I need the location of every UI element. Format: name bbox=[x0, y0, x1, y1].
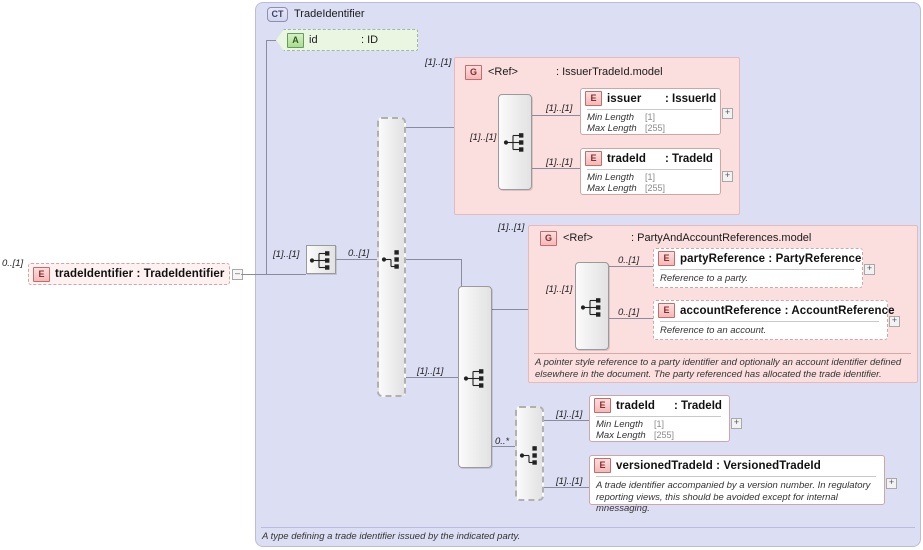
element-versionedtradeid[interactable]: E versionedTradeId : VersionedTradeId A … bbox=[589, 455, 885, 505]
connector-tradeid-bottom-branch bbox=[544, 420, 589, 421]
element-name: partyReference : PartyReference bbox=[680, 253, 861, 265]
connector-root-to-sequence bbox=[241, 274, 306, 275]
element-name: tradeId bbox=[616, 400, 674, 412]
multiplicity-choice-to-bottom-seq: [1]..[1] bbox=[417, 366, 443, 377]
facet-label: Max Length bbox=[587, 183, 645, 194]
multiplicity-tradeid-in-group: [1]..[1] bbox=[546, 157, 572, 168]
multiplicity-issuer-seq-in: [1]..[1] bbox=[470, 132, 496, 143]
compositor-sequence-root[interactable] bbox=[306, 245, 336, 274]
separator bbox=[660, 269, 854, 270]
element-documentation: Reference to a party. bbox=[654, 272, 862, 287]
element-documentation: Reference to an account. bbox=[654, 324, 887, 339]
sequence-icon bbox=[461, 364, 491, 393]
facet-list: Min Length[1] Max Length[255] bbox=[590, 419, 729, 443]
group-issuertradeid-header: G <Ref> : IssuerTradeId.model bbox=[459, 63, 735, 81]
group-doc-separator bbox=[534, 353, 911, 354]
connector-partyreference-branch bbox=[609, 266, 653, 267]
element-icon: E bbox=[594, 458, 611, 473]
element-name: versionedTradeId : VersionedTradeId bbox=[616, 460, 821, 472]
element-icon: E bbox=[658, 303, 675, 318]
complextype-icon: CT bbox=[267, 7, 288, 22]
connector-choice-mid-h1 bbox=[406, 259, 461, 260]
complextype-documentation: A type defining a trade identifier issue… bbox=[262, 531, 902, 542]
root-element-tradeidentifier[interactable]: E tradeIdentifier : TradeIdentifier bbox=[28, 263, 230, 285]
element-icon: E bbox=[594, 398, 611, 413]
element-type: : TradeId bbox=[674, 400, 722, 412]
element-icon: E bbox=[585, 91, 602, 106]
separator bbox=[587, 169, 712, 170]
facet-label: Max Length bbox=[596, 430, 654, 441]
multiplicity-seq-to-choice: 0..[1] bbox=[348, 248, 369, 259]
group-icon: G bbox=[465, 65, 482, 80]
group-documentation: A pointer style reference to a party ide… bbox=[535, 357, 913, 380]
group-ref-label: <Ref> bbox=[488, 66, 556, 78]
multiplicity-versionedtradeid: [1]..[1] bbox=[556, 476, 582, 487]
sequence-icon bbox=[501, 128, 531, 157]
complextype-doc-separator bbox=[261, 527, 915, 528]
separator bbox=[587, 109, 712, 110]
complextype-header: CT TradeIdentifier bbox=[261, 5, 567, 23]
element-tradeid-bottom-expand-button[interactable]: + bbox=[731, 418, 742, 429]
connector-choice-bot-h bbox=[406, 377, 459, 378]
multiplicity-partyreference: 0..[1] bbox=[618, 255, 639, 266]
attribute-type: : ID bbox=[361, 34, 378, 46]
facet-list: Min Length[1] Max Length[255] bbox=[581, 172, 720, 196]
compositor-sequence-bottom[interactable] bbox=[458, 286, 492, 468]
compositor-sequence-issuer[interactable] bbox=[498, 94, 532, 190]
choice-icon bbox=[380, 245, 405, 274]
element-icon: E bbox=[585, 151, 602, 166]
multiplicity-issuer: [1]..[1] bbox=[546, 103, 572, 114]
multiplicity-choice-to-issuer-group: [1]..[1] bbox=[425, 57, 451, 68]
element-type: : IssuerId bbox=[665, 93, 716, 105]
facet-label: Max Length bbox=[587, 123, 645, 134]
facet-value: [255] bbox=[645, 183, 665, 193]
attribute-name: id bbox=[309, 34, 361, 46]
root-element-label: tradeIdentifier : TradeIdentifier bbox=[55, 268, 224, 280]
element-tradeid-group[interactable]: E tradeId : TradeId Min Length[1] Max Le… bbox=[580, 148, 721, 195]
element-name: accountReference : AccountReference bbox=[680, 305, 895, 317]
complextype-title: TradeIdentifier bbox=[294, 8, 365, 20]
group-ref-label: <Ref> bbox=[563, 232, 631, 244]
separator bbox=[596, 476, 876, 477]
multiplicity-choice-to-party-group: [1]..[1] bbox=[498, 222, 524, 233]
element-issuer[interactable]: E issuer : IssuerId Min Length[1] Max Le… bbox=[580, 88, 721, 135]
facet-value: [255] bbox=[654, 430, 674, 440]
element-versionedtradeid-expand-button[interactable]: + bbox=[886, 478, 897, 489]
compositor-choice-main[interactable] bbox=[377, 117, 406, 397]
multiplicity-accountreference: 0..[1] bbox=[618, 307, 639, 318]
element-name: issuer bbox=[607, 93, 665, 105]
attribute-id[interactable]: A id : ID bbox=[276, 29, 418, 51]
facet-value: [1] bbox=[654, 419, 664, 429]
multiplicity-tradeid-bottom: [1]..[1] bbox=[556, 409, 582, 420]
element-tradeid-group-expand-button[interactable]: + bbox=[722, 171, 733, 182]
facet-value: [255] bbox=[645, 123, 665, 133]
element-issuer-expand-button[interactable]: + bbox=[722, 108, 733, 119]
facet-value: [1] bbox=[645, 172, 655, 182]
connector-issuer-branch bbox=[532, 115, 580, 116]
connector-attribute-vertical bbox=[266, 40, 267, 274]
multiplicity-root-to-seq: [1]..[1] bbox=[273, 249, 299, 260]
group-type-label: : PartyAndAccountReferences.model bbox=[631, 232, 811, 244]
connector-versionedtradeid-branch bbox=[544, 487, 589, 488]
multiplicity-party-seq-in: [1]..[1] bbox=[546, 284, 572, 295]
choice-icon bbox=[518, 441, 543, 470]
separator bbox=[660, 321, 879, 322]
element-accountreference[interactable]: E accountReference : AccountReference Re… bbox=[653, 300, 888, 340]
element-name: tradeId bbox=[607, 153, 665, 165]
element-partyreference[interactable]: E partyReference : PartyReference Refere… bbox=[653, 248, 863, 288]
element-icon: E bbox=[33, 267, 50, 282]
attribute-icon: A bbox=[287, 33, 304, 48]
group-partyandaccountreferences-header: G <Ref> : PartyAndAccountReferences.mode… bbox=[534, 229, 910, 247]
group-icon: G bbox=[540, 231, 557, 246]
sequence-icon bbox=[578, 293, 608, 322]
connector-attribute-horizontal bbox=[266, 40, 276, 41]
separator bbox=[596, 416, 721, 417]
facet-label: Min Length bbox=[587, 172, 645, 183]
element-partyreference-expand-button[interactable]: + bbox=[864, 264, 875, 275]
connector-choice-top-h1 bbox=[406, 127, 461, 128]
sequence-icon bbox=[307, 246, 337, 275]
element-icon: E bbox=[658, 251, 675, 266]
compositor-sequence-party[interactable] bbox=[575, 262, 609, 350]
multiplicity-bottomseq-to-choice2: 0..* bbox=[495, 436, 509, 447]
facet-value: [1] bbox=[645, 112, 655, 122]
element-type: : TradeId bbox=[665, 153, 713, 165]
facet-label: Min Length bbox=[587, 112, 645, 123]
connector-accountreference-branch bbox=[609, 318, 653, 319]
connector-tradeid-group-branch bbox=[532, 168, 580, 169]
facet-label: Min Length bbox=[596, 419, 654, 430]
connector-seq-to-choice bbox=[336, 259, 378, 260]
element-tradeid-bottom[interactable]: E tradeId : TradeId Min Length[1] Max Le… bbox=[589, 395, 730, 442]
compositor-choice-bottom[interactable] bbox=[515, 406, 544, 501]
group-type-label: : IssuerTradeId.model bbox=[556, 66, 663, 78]
facet-list: Min Length[1] Max Length[255] bbox=[581, 112, 720, 136]
element-accountreference-expand-button[interactable]: + bbox=[889, 316, 900, 327]
element-documentation: A trade identifier accompanied by a vers… bbox=[590, 479, 884, 517]
multiplicity-root: 0..[1] bbox=[2, 258, 23, 269]
